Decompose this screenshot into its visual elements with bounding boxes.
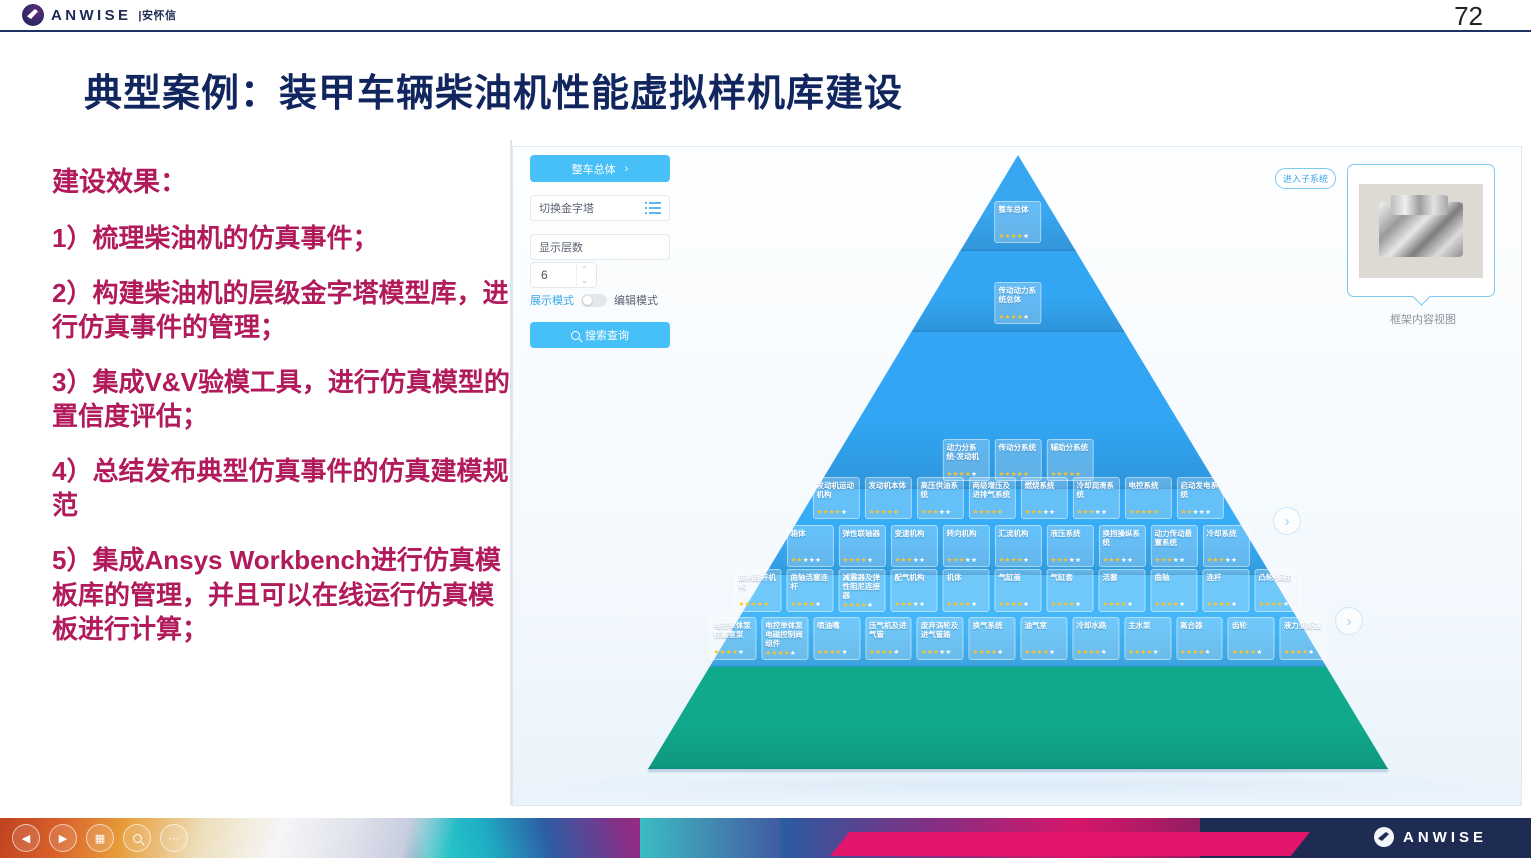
effect-item-3: 3）集成V&V验模工具，进行仿真模型的置信度评估； [52,365,512,434]
rating-stars: ★★★★★ [1207,557,1246,564]
effects-heading: 建设效果： [52,160,512,199]
top-bar: ANWISE |安怀信 72 [0,0,1531,32]
pyramid-node-label: 废弃涡轮及进气管路 [921,621,960,647]
pyramid-node-label: 喷油嘴 [817,621,856,647]
pyramid-node-label: 配气机构 [895,573,934,599]
rating-stars: ★★★★★ [1077,509,1116,516]
pyramid-node-label: 电控单体泵柱塞室泵 [713,621,752,647]
effects-list: 建设效果： 1）梳理柴油机的仿真事件； 2）构建柴油机的层级金字塔模型库，进行仿… [52,160,512,667]
anwise-logo: ANWISE |安怀信 [22,4,176,26]
tier-5-row-2: 电控单体泵柱塞室泵★★★★★电控单体泵电磁控制阀组件★★★★★喷油嘴★★★★★压… [709,617,1326,660]
pyramid-node[interactable]: 电控单体泵电磁控制阀组件★★★★★ [761,617,808,660]
effect-item-4: 4）总结发布典型仿真事件的仿真建模规范 [52,454,512,523]
pyramid-node[interactable]: 换挡操纵系统★★★★★ [1099,525,1146,567]
pyramid-node[interactable]: 喷油嘴★★★★★ [813,617,860,660]
rating-stars: ★★★★★ [999,557,1038,564]
pyramid-node-label: 传动分系统 [999,443,1038,469]
pyramid-node-label: 主水泵 [1128,621,1167,647]
pyramid-node[interactable]: 凸轮-挺柱★★★★★ [1255,569,1302,612]
pyramid-node[interactable]: 冷却系统★★★★★ [1203,525,1250,567]
pyramid-node[interactable]: 动力分系统-发动机★★★★★ [943,439,990,481]
pyramid-node[interactable]: 电控单体泵柱塞室泵★★★★★ [709,617,756,660]
anwise-logo-icon [1374,827,1394,847]
pyramid-node-label: 机体 [947,573,986,599]
pyramid-node-label: 油气室 [1025,621,1064,647]
rating-stars: ★★★★★ [1155,557,1194,564]
rating-stars: ★★★★★ [973,649,1012,656]
pyramid-node-label: 动力传动悬置系统 [1155,529,1194,555]
pyramid-node[interactable]: 发动机运动机构★★★★★ [813,477,860,519]
pyramid-node-label: 整车总体 [999,205,1038,231]
hierarchy-pyramid: 整车总体★★★★★传动动力系统总体★★★★★动力分系统-发动机★★★★★传动分系… [513,147,1522,806]
pyramid-node[interactable]: 汇流机构★★★★★ [995,525,1042,567]
pyramid-node-label: 减震器及弹性阻尼连接器 [843,573,882,600]
pyramid-node[interactable]: 换气系统★★★★★ [969,617,1016,660]
effect-item-1: 1）梳理柴油机的仿真事件； [52,221,512,256]
rating-stars: ★★★★★ [1259,601,1298,608]
bottom-bar: ◀ ▶ ▦ ⋯ ANWISE [0,818,1531,858]
pyramid-node-label: 曲轴活塞连杆 [791,573,830,599]
pyramid-node-label: 冷却润滑系统 [1077,481,1116,507]
pyramid-node-label: 弹性联轴器 [843,529,882,555]
rating-stars: ★★★★★ [973,509,1012,516]
brand-chinese: |安怀信 [138,7,176,23]
pyramid-tier-2: 传动动力系统总体★★★★★ [911,251,1124,332]
rating-stars: ★★★★★ [765,650,804,657]
pyramid-tier-4: 发动机运动机构★★★★★发动机本体★★★★★高压供油系统★★★★★两级增压及进排… [765,489,1271,575]
pyramid-node[interactable]: 整车总体★★★★★ [995,201,1042,243]
rating-stars: ★★★★★ [1128,649,1167,656]
rating-stars: ★★★★★ [869,509,908,516]
bottom-pink-banner [830,832,1310,856]
pyramid-node-label: 齿轮 [1232,621,1271,647]
pyramid-node[interactable]: 机体★★★★★ [943,569,990,612]
pyramid-node[interactable]: 配气机构★★★★★ [891,569,938,612]
rating-stars: ★★★★★ [1129,509,1168,516]
pyramid-node-label: 转向机构 [947,529,986,555]
pyramid-node[interactable]: 动力传动悬置系统★★★★★ [1151,525,1198,567]
slideshow-controls: ◀ ▶ ▦ ⋯ [12,824,188,852]
rating-stars: ★★★★★ [843,557,882,564]
pyramid-node-label: 燃烧系统 [1025,481,1064,507]
pyramid-node-label: 气缸套 [1051,573,1090,599]
header-divider [0,30,1531,32]
pyramid-node[interactable]: 曲轴★★★★★ [1151,569,1198,612]
pyramid-tier-5: 曲柄连杆机构★★★★★曲轴活塞连杆★★★★★减震器及弹性阻尼连接器★★★★★配气… [709,575,1326,667]
pyramid-node[interactable]: 液压系统★★★★★ [1047,525,1094,567]
pyramid-node[interactable]: 气缸盖★★★★★ [995,569,1042,612]
rating-stars: ★★★★★ [791,557,830,564]
next-page-chevron-1[interactable]: › [1273,507,1301,535]
pyramid-node[interactable]: 燃烧系统★★★★★ [1021,477,1068,519]
rating-stars: ★★★★★ [817,509,856,516]
pyramid-node-label: 压气机及进气管 [869,621,908,647]
pyramid-node[interactable]: 变速机构★★★★★ [891,525,938,567]
rating-stars: ★★★★★ [739,601,778,608]
rating-stars: ★★★★★ [1103,557,1142,564]
pyramid-node[interactable]: 箱体★★★★★ [787,525,834,567]
rating-stars: ★★★★★ [1103,601,1142,608]
pyramid-node[interactable]: 气缸套★★★★★ [1047,569,1094,612]
pyramid-node-label: 换挡操纵系统 [1103,529,1142,555]
pyramid-node-label: 发动机本体 [869,481,908,507]
pyramid-tier-3: 动力分系统-发动机★★★★★传动分系统★★★★★辅助分系统★★★★★ [817,332,1220,489]
rating-stars: ★★★★★ [1051,557,1090,564]
pyramid-node-label: 曲轴 [1155,573,1194,599]
pyramid-node[interactable]: 减震器及弹性阻尼连接器★★★★★ [839,569,886,612]
rating-stars: ★★★★★ [1181,509,1220,516]
pyramid-node-label: 发动机运动机构 [817,481,856,507]
pyramid-tier-6 [648,667,1388,769]
pyramid-node-label: 连杆 [1207,573,1246,599]
footer-logo: ANWISE [1374,827,1487,847]
pyramid-app-window: 整车总体 › 切换金字塔 显示层数 6 ⌃ ⌄ 展示模式 编辑模式 搜索查询 [512,146,1522,806]
pyramid-node-label: 电控系统 [1129,481,1168,507]
rating-stars: ★★★★★ [1207,601,1246,608]
prev-slide-button[interactable]: ◀ [12,824,40,852]
rating-stars: ★★★★★ [947,557,986,564]
pyramid-node[interactable]: 废弃涡轮及进气管路★★★★★ [917,617,964,660]
tier-4-row-1: 发动机运动机构★★★★★发动机本体★★★★★高压供油系统★★★★★两级增压及进排… [765,477,1271,519]
pyramid-tier-1: 整车总体★★★★★ [960,155,1076,251]
effect-item-2: 2）构建柴油机的层级金字塔模型库，进行仿真事件的管理； [52,276,512,345]
tier-1-row-1: 整车总体★★★★★ [960,201,1076,243]
rating-stars: ★★★★★ [921,509,960,516]
anwise-logo-icon [22,4,44,26]
pyramid-node[interactable]: 启动发电系统★★★★★ [1177,477,1224,519]
more-options-button[interactable]: ⋯ [160,824,188,852]
rating-stars: ★★★★★ [1155,601,1194,608]
rating-stars: ★★★★★ [999,601,1038,608]
pyramid-node-label: 冷却系统 [1207,529,1246,555]
pyramid-node[interactable]: 冷却水路★★★★★ [1072,617,1119,660]
rating-stars: ★★★★★ [1076,649,1115,656]
pyramid-node[interactable]: 主水泵★★★★★ [1124,617,1171,660]
footer-brand-word: ANWISE [1403,829,1487,846]
rating-stars: ★★★★★ [1232,649,1271,656]
pyramid-node[interactable]: 液力变矩器★★★★★ [1280,617,1327,660]
pyramid-node-label: 液压系统 [1051,529,1090,555]
pyramid-node-label: 启动发电系统 [1181,481,1220,507]
pyramid-node[interactable]: 离合器★★★★★ [1176,617,1223,660]
rating-stars: ★★★★★ [999,314,1038,321]
rating-stars: ★★★★★ [713,649,752,656]
pyramid-ground-shadow [523,771,1511,799]
grid-view-button[interactable]: ▦ [86,824,114,852]
pyramid-node[interactable]: 高压供油系统★★★★★ [917,477,964,519]
pyramid-node-label: 汇流机构 [999,529,1038,555]
rating-stars: ★★★★★ [1051,601,1090,608]
pyramid-node[interactable]: 弹性联轴器★★★★★ [839,525,886,567]
page-number: 72 [1454,1,1483,32]
pyramid-node[interactable]: 连杆★★★★★ [1203,569,1250,612]
page-title: 典型案例：装甲车辆柴油机性能虚拟样机库建设 [84,62,903,117]
pyramid-node-label: 气缸盖 [999,573,1038,599]
tier-4-row-2: 箱体★★★★★弹性联轴器★★★★★变速机构★★★★★转向机构★★★★★汇流机构★… [765,525,1271,567]
pyramid-node-label: 冷却水路 [1076,621,1115,647]
pyramid-node-label: 箱体 [791,529,830,555]
pyramid-node-label: 高压供油系统 [921,481,960,507]
pyramid-node[interactable]: 传动分系统★★★★★ [995,439,1042,481]
pyramid-node[interactable]: 传动动力系统总体★★★★★ [995,282,1042,324]
pyramid-node[interactable]: 活塞★★★★★ [1099,569,1146,612]
pyramid-node[interactable]: 冷却润滑系统★★★★★ [1073,477,1120,519]
rating-stars: ★★★★★ [1025,649,1064,656]
rating-stars: ★★★★★ [1284,649,1323,656]
pyramid-node-label: 液力变矩器 [1284,621,1323,647]
pyramid-node[interactable]: 曲柄连杆机构★★★★★ [735,569,782,612]
pyramid-node-label: 活塞 [1103,573,1142,599]
next-page-chevron-2[interactable]: › [1335,607,1363,635]
tier-5-row-1: 曲柄连杆机构★★★★★曲轴活塞连杆★★★★★减震器及弹性阻尼连接器★★★★★配气… [709,569,1326,612]
tier-3-row-1: 动力分系统-发动机★★★★★传动分系统★★★★★辅助分系统★★★★★ [817,439,1220,481]
tier-shape[interactable] [648,667,1388,769]
pyramid-node-label: 离合器 [1180,621,1219,647]
rating-stars: ★★★★★ [1025,509,1064,516]
pyramid-node-label: 换气系统 [973,621,1012,647]
pyramid-node[interactable]: 辅助分系统★★★★★ [1047,439,1094,481]
brand-word: ANWISE [51,7,131,24]
zoom-search-button[interactable] [123,824,151,852]
rating-stars: ★★★★★ [895,557,934,564]
rating-stars: ★★★★★ [843,602,882,609]
pyramid-node[interactable]: 齿轮★★★★★ [1228,617,1275,660]
pyramid-node-label: 曲柄连杆机构 [739,573,778,599]
pyramid-node-label: 凸轮-挺柱 [1259,573,1298,599]
rating-stars: ★★★★★ [817,649,856,656]
pyramid-node[interactable]: 电控系统★★★★★ [1125,477,1172,519]
tier-2-row-1: 传动动力系统总体★★★★★ [911,282,1124,324]
pyramid-node[interactable]: 油气室★★★★★ [1021,617,1068,660]
rating-stars: ★★★★★ [869,649,908,656]
pyramid-node[interactable]: 转向机构★★★★★ [943,525,990,567]
search-icon [133,834,142,843]
pyramid-node[interactable]: 两级增压及进排气系统★★★★★ [969,477,1016,519]
pyramid-node-label: 辅助分系统 [1051,443,1090,469]
pyramid-node-label: 两级增压及进排气系统 [973,481,1012,507]
rating-stars: ★★★★★ [999,233,1038,240]
pyramid-node-label: 传动动力系统总体 [999,286,1038,312]
effect-item-5: 5）集成Ansys Workbench进行仿真模板库的管理，并且可以在线运行仿真… [52,543,512,647]
rating-stars: ★★★★★ [1180,649,1219,656]
rating-stars: ★★★★★ [895,601,934,608]
pyramid-node-label: 电控单体泵电磁控制阀组件 [765,621,804,648]
next-slide-button[interactable]: ▶ [49,824,77,852]
pyramid-node[interactable]: 发动机本体★★★★★ [865,477,912,519]
pyramid-node[interactable]: 曲轴活塞连杆★★★★★ [787,569,834,612]
rating-stars: ★★★★★ [791,601,830,608]
pyramid-node-label: 动力分系统-发动机 [947,443,986,469]
rating-stars: ★★★★★ [947,601,986,608]
pyramid-node[interactable]: 压气机及进气管★★★★★ [865,617,912,660]
pyramid-node-label: 变速机构 [895,529,934,555]
rating-stars: ★★★★★ [921,649,960,656]
